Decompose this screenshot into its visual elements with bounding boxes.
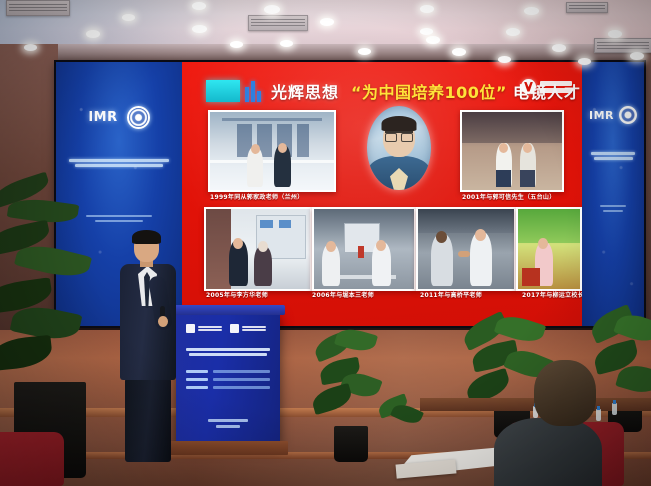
- slide-title-main: 光辉思想: [271, 79, 339, 103]
- leaf: [310, 383, 355, 415]
- sponsor-logo: [521, 79, 572, 94]
- photo-bottom-2: [312, 207, 416, 291]
- ceiling-light: [320, 18, 334, 26]
- podium-logo-1: [186, 324, 222, 333]
- photo-content: [462, 112, 562, 190]
- podium-top-surface: [171, 305, 285, 315]
- podium: [176, 312, 280, 445]
- ceiling-light: [24, 44, 37, 51]
- podium-info-row: [186, 378, 270, 381]
- ceiling-light: [506, 28, 520, 36]
- person-head: [278, 143, 287, 153]
- speaker-hair: [132, 230, 161, 244]
- imr-logo-left: IMR: [56, 106, 182, 129]
- water-bottle: [596, 409, 601, 421]
- person-head: [376, 240, 386, 251]
- ceiling-light: [358, 48, 371, 55]
- person-head: [251, 144, 260, 154]
- photo-content: [210, 112, 334, 190]
- photo-bottom-1: [204, 207, 312, 291]
- podium-org-logos: [186, 324, 270, 333]
- ceiling-light: [122, 14, 135, 21]
- led-left-caption: [62, 157, 176, 169]
- audience-member-head: [534, 360, 596, 426]
- photo-caption: 2001年与郭可信先生（五台山）: [462, 192, 556, 201]
- audience-chair: [0, 432, 64, 486]
- ceiling-light: [192, 2, 206, 10]
- photo-caption: 2006年与堀本三老师: [312, 290, 374, 299]
- row-value: [213, 386, 270, 389]
- led-panel-right: IMR: [582, 62, 644, 326]
- slide-title-highlight: “为中国培养100位”: [351, 79, 507, 103]
- ceiling-vent: [566, 2, 608, 13]
- row-key: [186, 386, 208, 389]
- ceiling-vent: [248, 15, 308, 31]
- podium-logo-2: [230, 324, 266, 333]
- photo-content: [314, 209, 414, 289]
- person-head: [499, 143, 508, 153]
- teal-block-icon: [206, 80, 240, 102]
- podium-base: [170, 441, 288, 455]
- podium-logo-text: [198, 326, 222, 332]
- speaker-legs: [125, 378, 171, 462]
- row-value: [213, 370, 270, 373]
- imr-logo-right: IMR: [582, 106, 644, 124]
- presentation-slide: 光辉思想 “为中国培养100位” 电镜人才: [182, 62, 582, 326]
- palm-frond: [0, 335, 53, 371]
- photo-top-right: [460, 110, 564, 192]
- person-head: [436, 231, 447, 243]
- potted-plant: [378, 398, 420, 458]
- portrait-center: [367, 106, 431, 190]
- sponsor-mark-icon: [521, 79, 536, 94]
- photo-caption: 2005年与李方华老师: [206, 290, 268, 299]
- ceiling-light: [426, 36, 440, 44]
- podium-title: [183, 345, 273, 359]
- ceiling-light: [630, 52, 644, 60]
- institute-seal-icon: [619, 106, 637, 124]
- photo-caption: 1999年同从郭家政老师（兰州）: [210, 192, 304, 201]
- person-head: [233, 238, 243, 249]
- imr-logo-text: IMR: [88, 110, 117, 125]
- row-value: [213, 378, 270, 381]
- podium-info-row: [186, 386, 270, 389]
- speaker-presenter: [118, 232, 180, 460]
- ceiling-light: [420, 28, 433, 35]
- row-key: [186, 370, 208, 373]
- podium-footer: [194, 416, 262, 431]
- audience-member-body: [494, 418, 602, 486]
- center-mark-icon: [230, 324, 239, 333]
- podium-info-rows: [186, 370, 270, 394]
- photo-content: [518, 209, 580, 289]
- led-right-subcaption: [592, 202, 634, 215]
- ceiling-light: [498, 56, 511, 63]
- photo-top-left: [208, 110, 336, 192]
- water-bottle: [612, 403, 617, 415]
- ceiling-light: [192, 25, 207, 33]
- bar-chart-icon: [245, 80, 261, 102]
- institute-seal-icon: [127, 106, 150, 129]
- ceiling-light: [608, 30, 622, 38]
- ceiling-light: [420, 5, 434, 13]
- photo-content: [418, 209, 514, 289]
- photo-caption: 2011年与高桥平老师: [420, 290, 482, 299]
- portrait-hair: [382, 116, 417, 131]
- podium-logo-text: [242, 326, 266, 332]
- ceiling-light: [452, 48, 466, 56]
- ceiling-light: [524, 7, 539, 15]
- photo-bottom-3: [416, 207, 516, 291]
- photo-content: [206, 209, 310, 289]
- ceiling-vent: [594, 38, 651, 53]
- podium-info-row: [186, 370, 270, 373]
- ceiling-light: [578, 58, 591, 65]
- conference-stage-photo: IMR IMR 光辉思想 “为中国培: [0, 0, 651, 486]
- plant-pot: [334, 426, 368, 462]
- sponsor-wordmark: [540, 81, 572, 93]
- photo-bottom-4: [516, 207, 582, 291]
- person-head: [523, 143, 532, 153]
- ceiling-vent: [6, 0, 70, 16]
- row-key: [186, 378, 208, 381]
- imr-logo-text: IMR: [589, 109, 614, 122]
- ceiling-light: [230, 41, 243, 48]
- ceiling-light: [86, 30, 100, 38]
- institute-mark-icon: [186, 324, 195, 333]
- ceiling-light: [552, 44, 566, 52]
- glasses-icon: [385, 131, 413, 141]
- person-head: [475, 229, 486, 241]
- ceiling-light: [264, 5, 280, 14]
- photo-caption: 2017年与柳运立校长: [522, 290, 582, 299]
- speaker-hand: [158, 316, 168, 327]
- led-right-caption: [588, 150, 638, 162]
- ceiling-light: [280, 40, 293, 47]
